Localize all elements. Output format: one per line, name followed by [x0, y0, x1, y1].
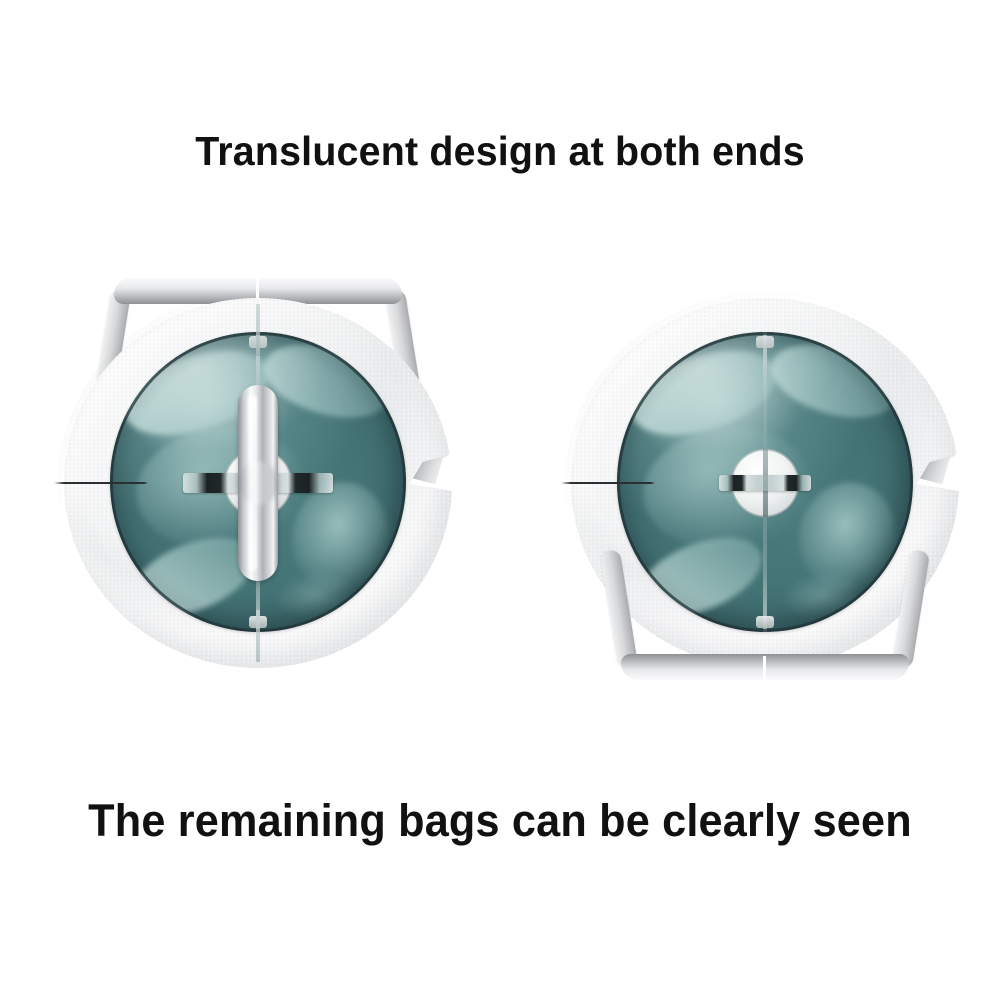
pull-stem-upper — [256, 304, 260, 356]
metal-crossbar — [719, 475, 811, 491]
bottom-caption: The remaining bags can be clearly seen — [20, 795, 980, 847]
strap-arm-left — [600, 549, 638, 669]
strap-seam — [763, 656, 766, 680]
rim-tick-line — [555, 482, 655, 484]
strap-arm-right — [892, 549, 930, 669]
pull-stem-lower — [256, 610, 260, 662]
product-image-canvas: Translucent design at both ends — [0, 0, 1000, 1000]
product-stage — [0, 268, 1000, 688]
carry-strap-bottom — [565, 554, 965, 684]
vertical-pull-handle — [238, 385, 278, 581]
product-left — [58, 268, 458, 688]
product-body-left — [64, 298, 452, 668]
product-right — [565, 268, 965, 688]
pull-handle-waist — [237, 461, 279, 505]
top-caption: Translucent design at both ends — [20, 128, 980, 175]
rim-tick-line — [48, 482, 148, 484]
